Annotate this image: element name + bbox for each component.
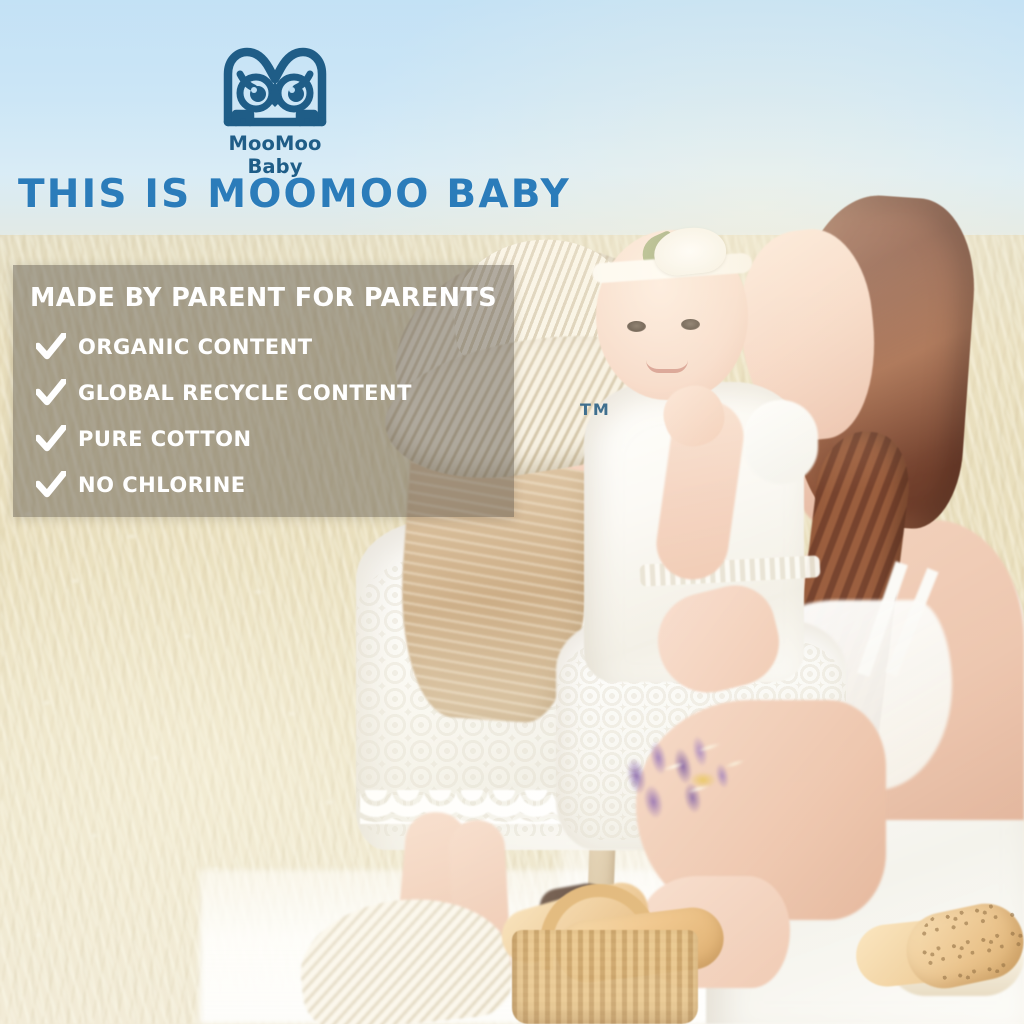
baby-sleeve [744,400,818,484]
feature-panel-title: MADE BY PARENT FOR PARENTS [30,283,497,313]
list-item: NO CHLORINE [30,463,500,507]
baby-eye-right [681,319,700,330]
list-item: PURE COTTON [30,417,500,461]
owl-icon [216,44,334,130]
check-icon [36,379,78,407]
baby-smile [646,360,688,373]
picnic-basket [512,930,698,1024]
bouquet-yellow-flower [690,772,716,788]
page-title: THIS IS MOOMOO BABY [18,172,571,217]
feature-list: ORGANIC CONTENT GLOBAL RECYCLE CONTENT P… [30,325,500,509]
baby-eye-left [627,321,646,332]
trademark-mark: TM [580,400,611,419]
list-item: ORGANIC CONTENT [30,325,500,369]
list-item: GLOBAL RECYCLE CONTENT [30,371,500,415]
feature-label: ORGANIC CONTENT [78,335,313,359]
check-icon [36,471,78,499]
check-icon [36,333,78,361]
feature-label: NO CHLORINE [78,473,246,497]
feature-label: GLOBAL RECYCLE CONTENT [78,381,412,405]
brand-logo[interactable]: MooMoo Baby [205,44,345,156]
feature-panel: MADE BY PARENT FOR PARENTS ORGANIC CONTE… [13,265,514,517]
check-icon [36,425,78,453]
promo-banner: MooMoo Baby THIS IS MOOMOO BABY MADE BY … [0,0,1024,1024]
feature-label: PURE COTTON [78,427,252,451]
